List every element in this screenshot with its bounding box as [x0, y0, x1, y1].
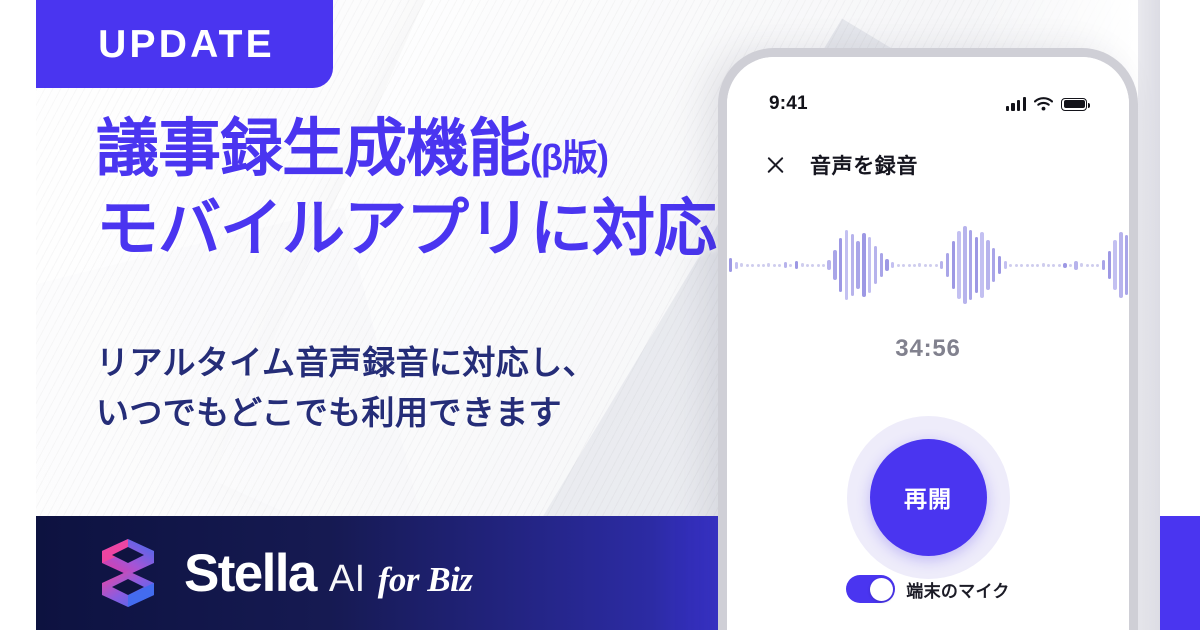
battery-full-icon	[1061, 98, 1087, 111]
brand-bar: Stella AI for Biz	[36, 516, 736, 630]
wifi-icon	[1034, 97, 1053, 111]
phone-screen: 9:41 音声を録音 34:56	[727, 57, 1129, 630]
record-button-ring: 再開	[847, 416, 1010, 579]
status-bar-icons	[1006, 97, 1087, 111]
record-button-area: 再開	[727, 397, 1129, 597]
headline-line-1-main: 議事録生成機能	[96, 118, 530, 181]
subcopy-line-2: いつでもどこでも利用できます	[96, 388, 596, 438]
audio-waveform	[718, 219, 1138, 311]
mic-source-row: 端末のマイク	[727, 575, 1129, 603]
phone-mockup: 9:41 音声を録音 34:56	[718, 48, 1138, 630]
phone-status-bar: 9:41	[727, 91, 1129, 117]
headline-beta-tag: (β版)	[530, 140, 608, 181]
waveform-area	[727, 217, 1129, 313]
cellular-signal-icon	[1006, 97, 1026, 111]
headline: 議事録生成機能 (β版) モバイルアプリに対応	[96, 118, 716, 261]
right-gray-strip	[1138, 0, 1160, 630]
update-badge: UPDATE	[36, 0, 333, 88]
headline-line-1: 議事録生成機能 (β版)	[96, 118, 716, 181]
mic-toggle-switch[interactable]	[846, 575, 895, 603]
brand-suffix: for Biz	[378, 562, 473, 597]
mic-toggle-label: 端末のマイク	[906, 577, 1009, 602]
subcopy: リアルタイム音声録音に対応し、 いつでもどこでも利用できます	[96, 338, 596, 438]
subcopy-line-1: リアルタイム音声録音に対応し、	[96, 338, 596, 388]
headline-line-2-main: モバイルアプリに対応	[96, 198, 716, 261]
brand-name: Stella	[184, 547, 316, 600]
app-header: 音声を録音	[727, 143, 1129, 187]
brand-lockup: Stella AI for Biz	[36, 537, 472, 609]
close-icon[interactable]	[765, 155, 786, 176]
recording-timer: 34:56	[727, 335, 1129, 363]
status-bar-time: 9:41	[769, 93, 808, 115]
app-title: 音声を録音	[810, 150, 918, 180]
update-banner: UPDATE 議事録生成機能 (β版) モバイルアプリに対応 リアルタイム音声録…	[0, 0, 1200, 630]
brand-ai-label: AI	[329, 560, 366, 598]
resume-record-button[interactable]: 再開	[870, 439, 987, 556]
resume-record-button-label: 再開	[904, 480, 952, 514]
right-purple-accent-strip	[1160, 516, 1200, 630]
headline-line-2: モバイルアプリに対応	[96, 198, 716, 261]
update-badge-label: UPDATE	[94, 25, 275, 64]
stella-logo-icon	[94, 537, 162, 609]
brand-wordmark: Stella AI for Biz	[184, 547, 472, 600]
